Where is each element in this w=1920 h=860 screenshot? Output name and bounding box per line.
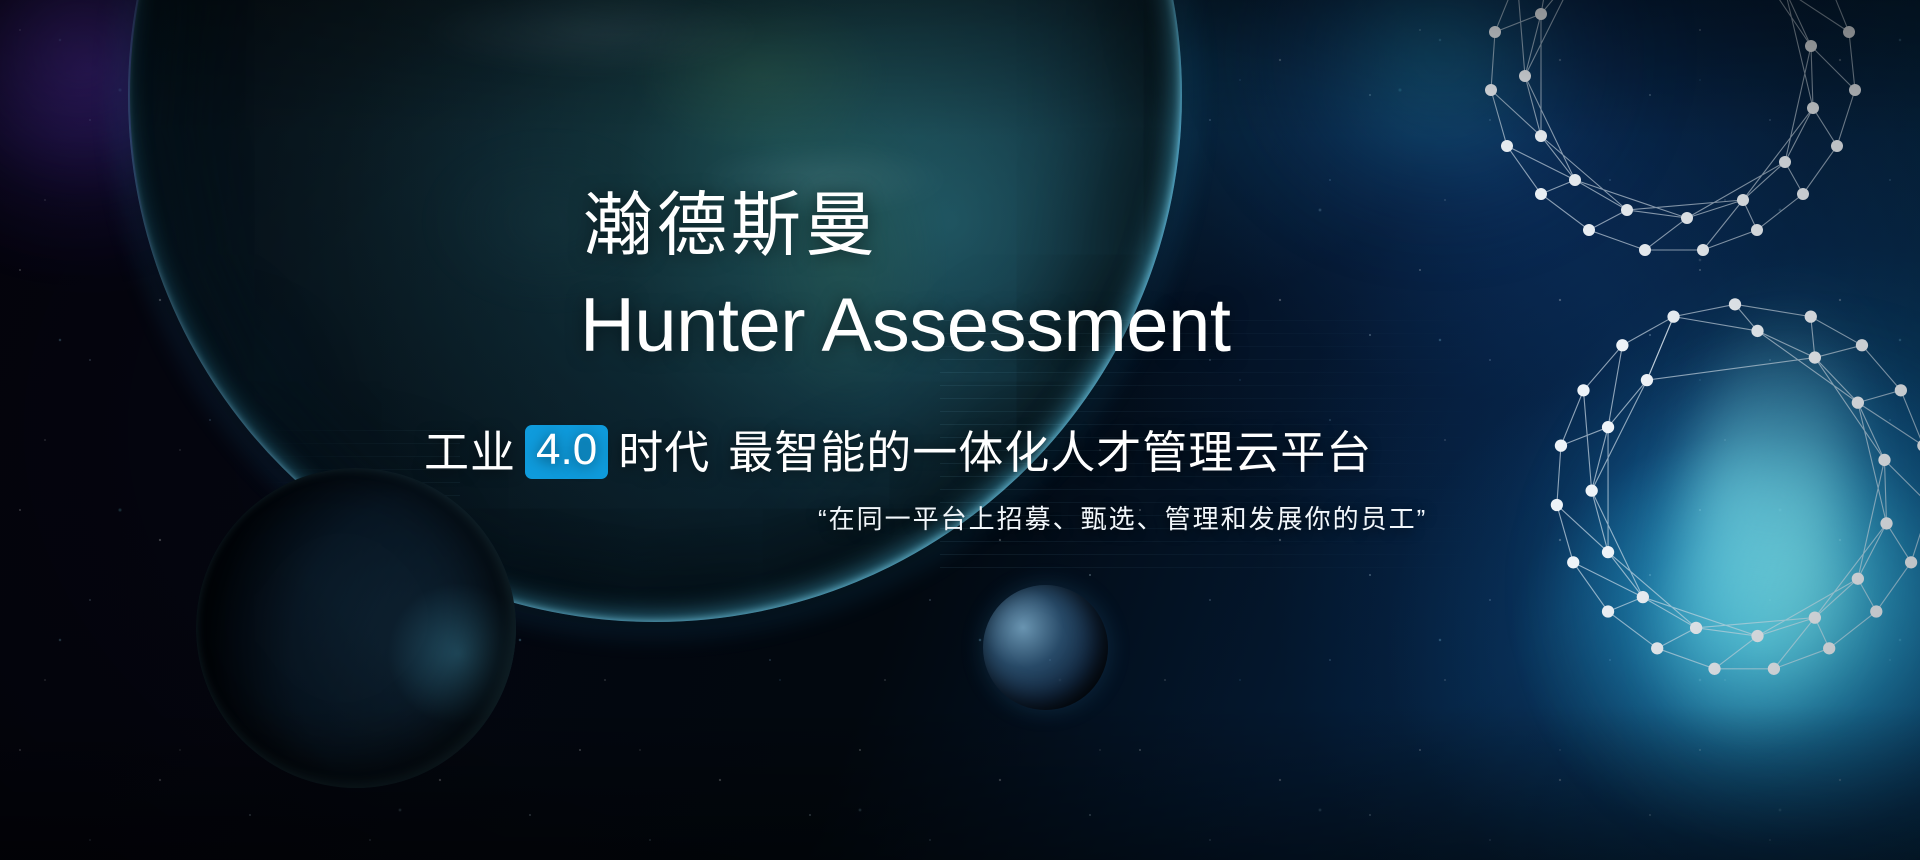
hero-text-block: 瀚德斯曼 Hunter Assessment 工业 4.0 时代 最智能的一体化… [0,0,1920,860]
tagline-prefix: 工业 [424,430,516,475]
page-title-cn: 瀚德斯曼 [583,190,879,260]
page-subtitle: “在同一平台上招募、甄选、管理和发展你的员工” [818,506,1427,532]
tagline-suffix: 最智能的一体化人才管理云平台 [728,430,1372,475]
hero-banner: 瀚德斯曼 Hunter Assessment 工业 4.0 时代 最智能的一体化… [0,0,1920,860]
tagline-middle: 时代 [618,430,710,475]
page-title-en: Hunter Assessment [580,288,1230,364]
industry-version-badge: 4.0 [525,425,608,479]
tagline: 工业 4.0 时代 最智能的一体化人才管理云平台 [424,425,1372,479]
